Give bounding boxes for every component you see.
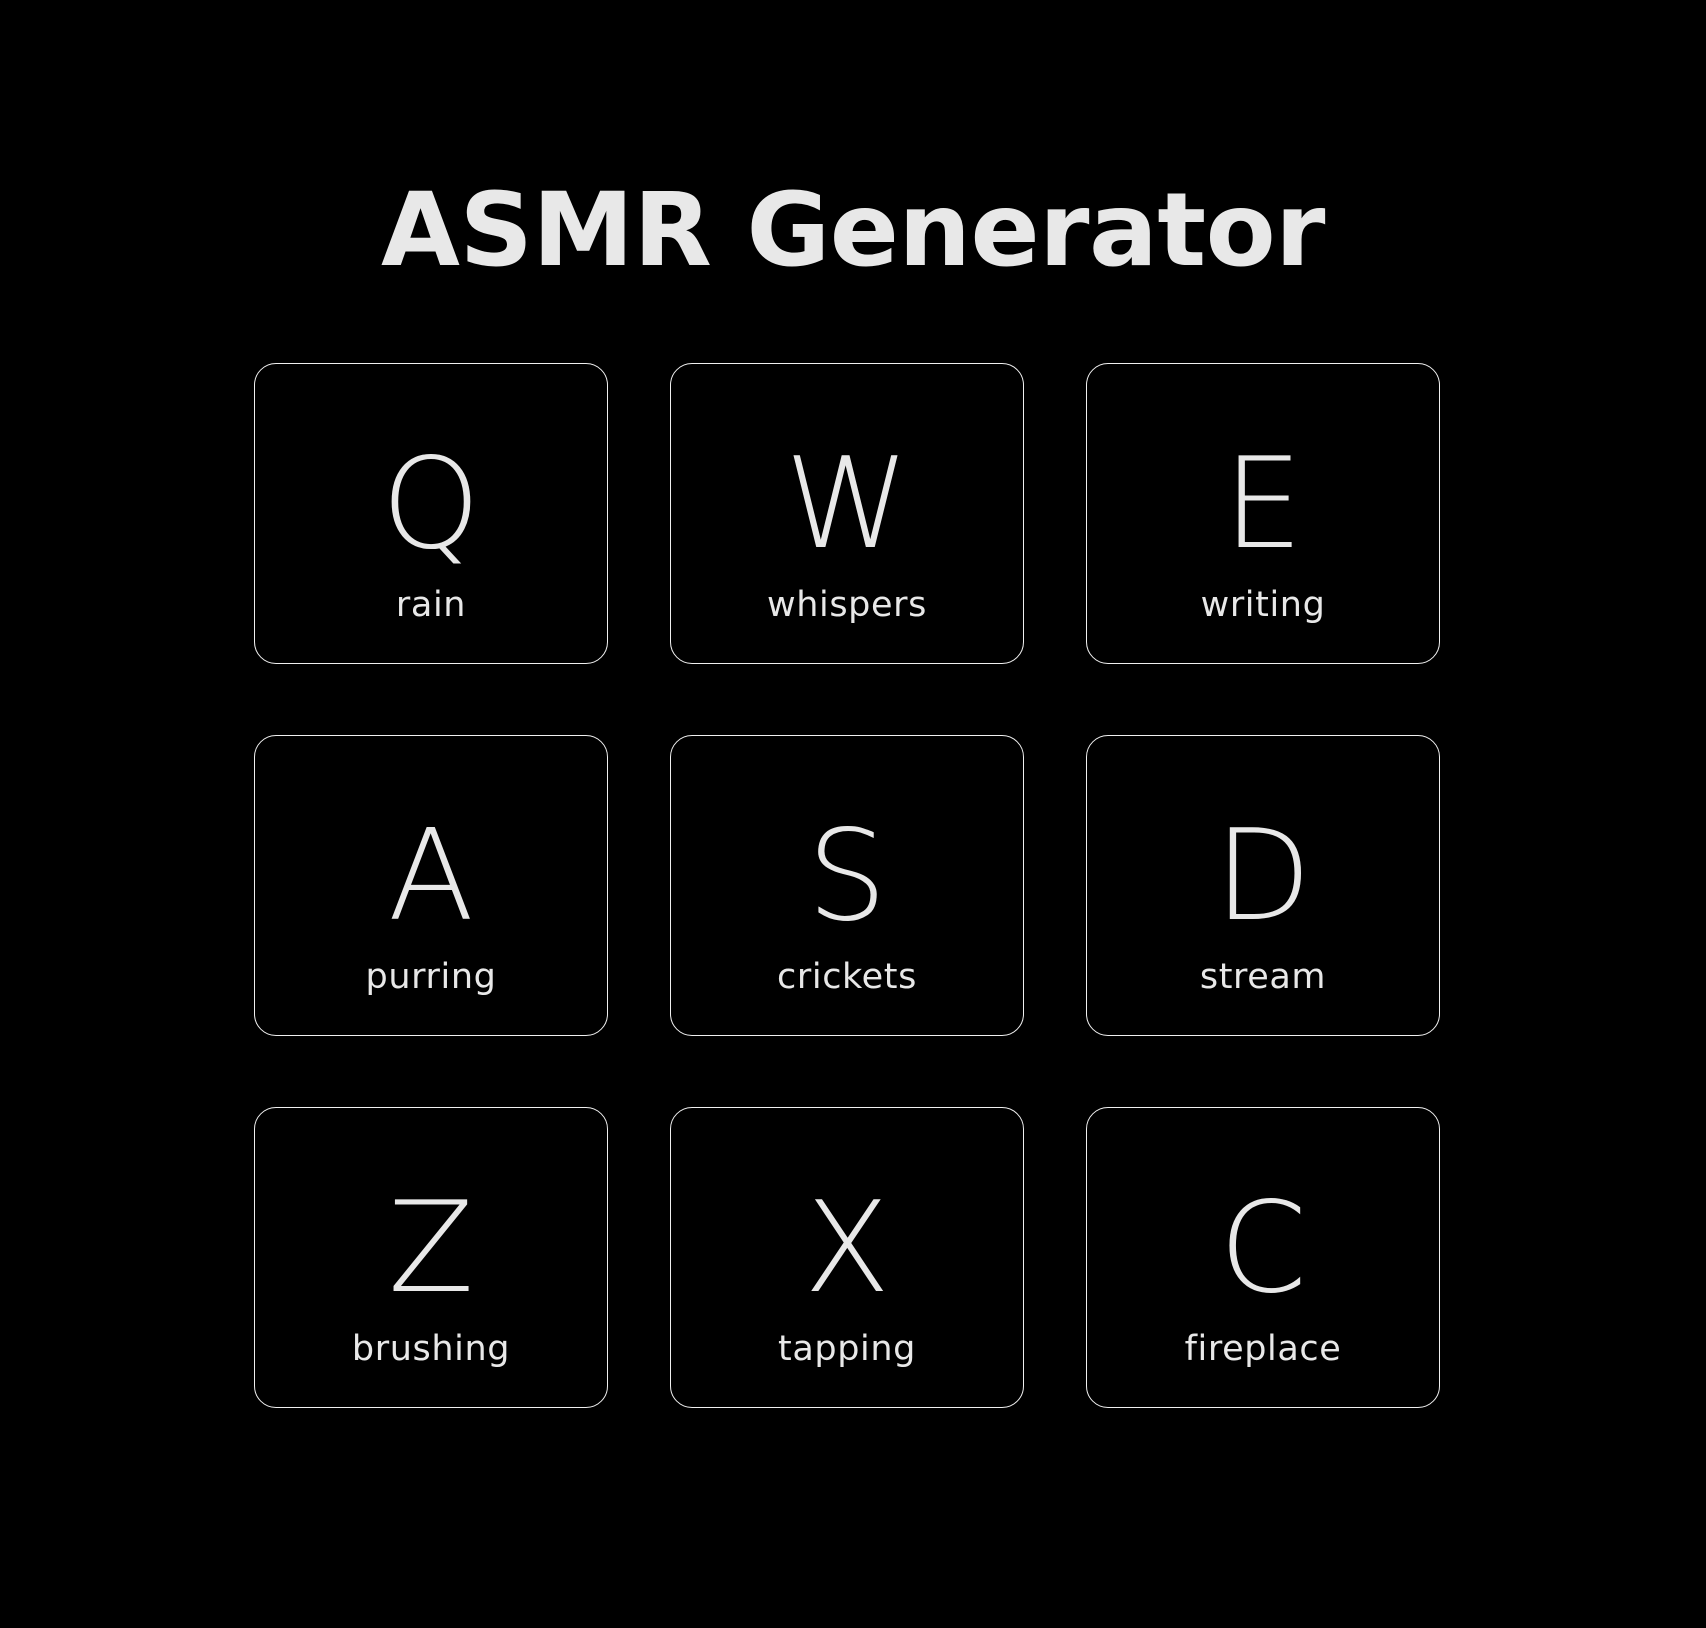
sound-key-a[interactable]: A purring bbox=[254, 735, 608, 1036]
key-letter: X bbox=[671, 1184, 1023, 1310]
sound-key-e[interactable]: E writing bbox=[1086, 363, 1440, 664]
sound-key-d[interactable]: D stream bbox=[1086, 735, 1440, 1036]
key-label: crickets bbox=[671, 960, 1023, 995]
sound-key-x[interactable]: X tapping bbox=[670, 1107, 1024, 1408]
sound-key-grid: Q rain W whispers E writing A purring S … bbox=[254, 363, 1440, 1408]
key-letter: C bbox=[1087, 1184, 1439, 1310]
key-label: writing bbox=[1087, 588, 1439, 623]
key-label: whispers bbox=[671, 588, 1023, 623]
sound-key-c[interactable]: C fireplace bbox=[1086, 1107, 1440, 1408]
sound-key-z[interactable]: Z brushing bbox=[254, 1107, 608, 1408]
key-letter: D bbox=[1087, 812, 1439, 938]
key-label: purring bbox=[255, 960, 607, 995]
key-letter: W bbox=[671, 440, 1023, 566]
key-label: rain bbox=[255, 588, 607, 623]
sound-key-q[interactable]: Q rain bbox=[254, 363, 608, 664]
key-letter: S bbox=[671, 812, 1023, 938]
key-letter: A bbox=[255, 812, 607, 938]
key-letter: Q bbox=[255, 440, 607, 566]
key-label: tapping bbox=[671, 1332, 1023, 1367]
asmr-generator-app: ASMR Generator Q rain W whispers E writi… bbox=[0, 0, 1706, 1628]
key-letter: E bbox=[1087, 440, 1439, 566]
sound-key-w[interactable]: W whispers bbox=[670, 363, 1024, 664]
key-label: brushing bbox=[255, 1332, 607, 1367]
key-label: fireplace bbox=[1087, 1332, 1439, 1367]
key-label: stream bbox=[1087, 960, 1439, 995]
sound-key-s[interactable]: S crickets bbox=[670, 735, 1024, 1036]
page-title: ASMR Generator bbox=[0, 172, 1706, 289]
key-letter: Z bbox=[255, 1184, 607, 1310]
